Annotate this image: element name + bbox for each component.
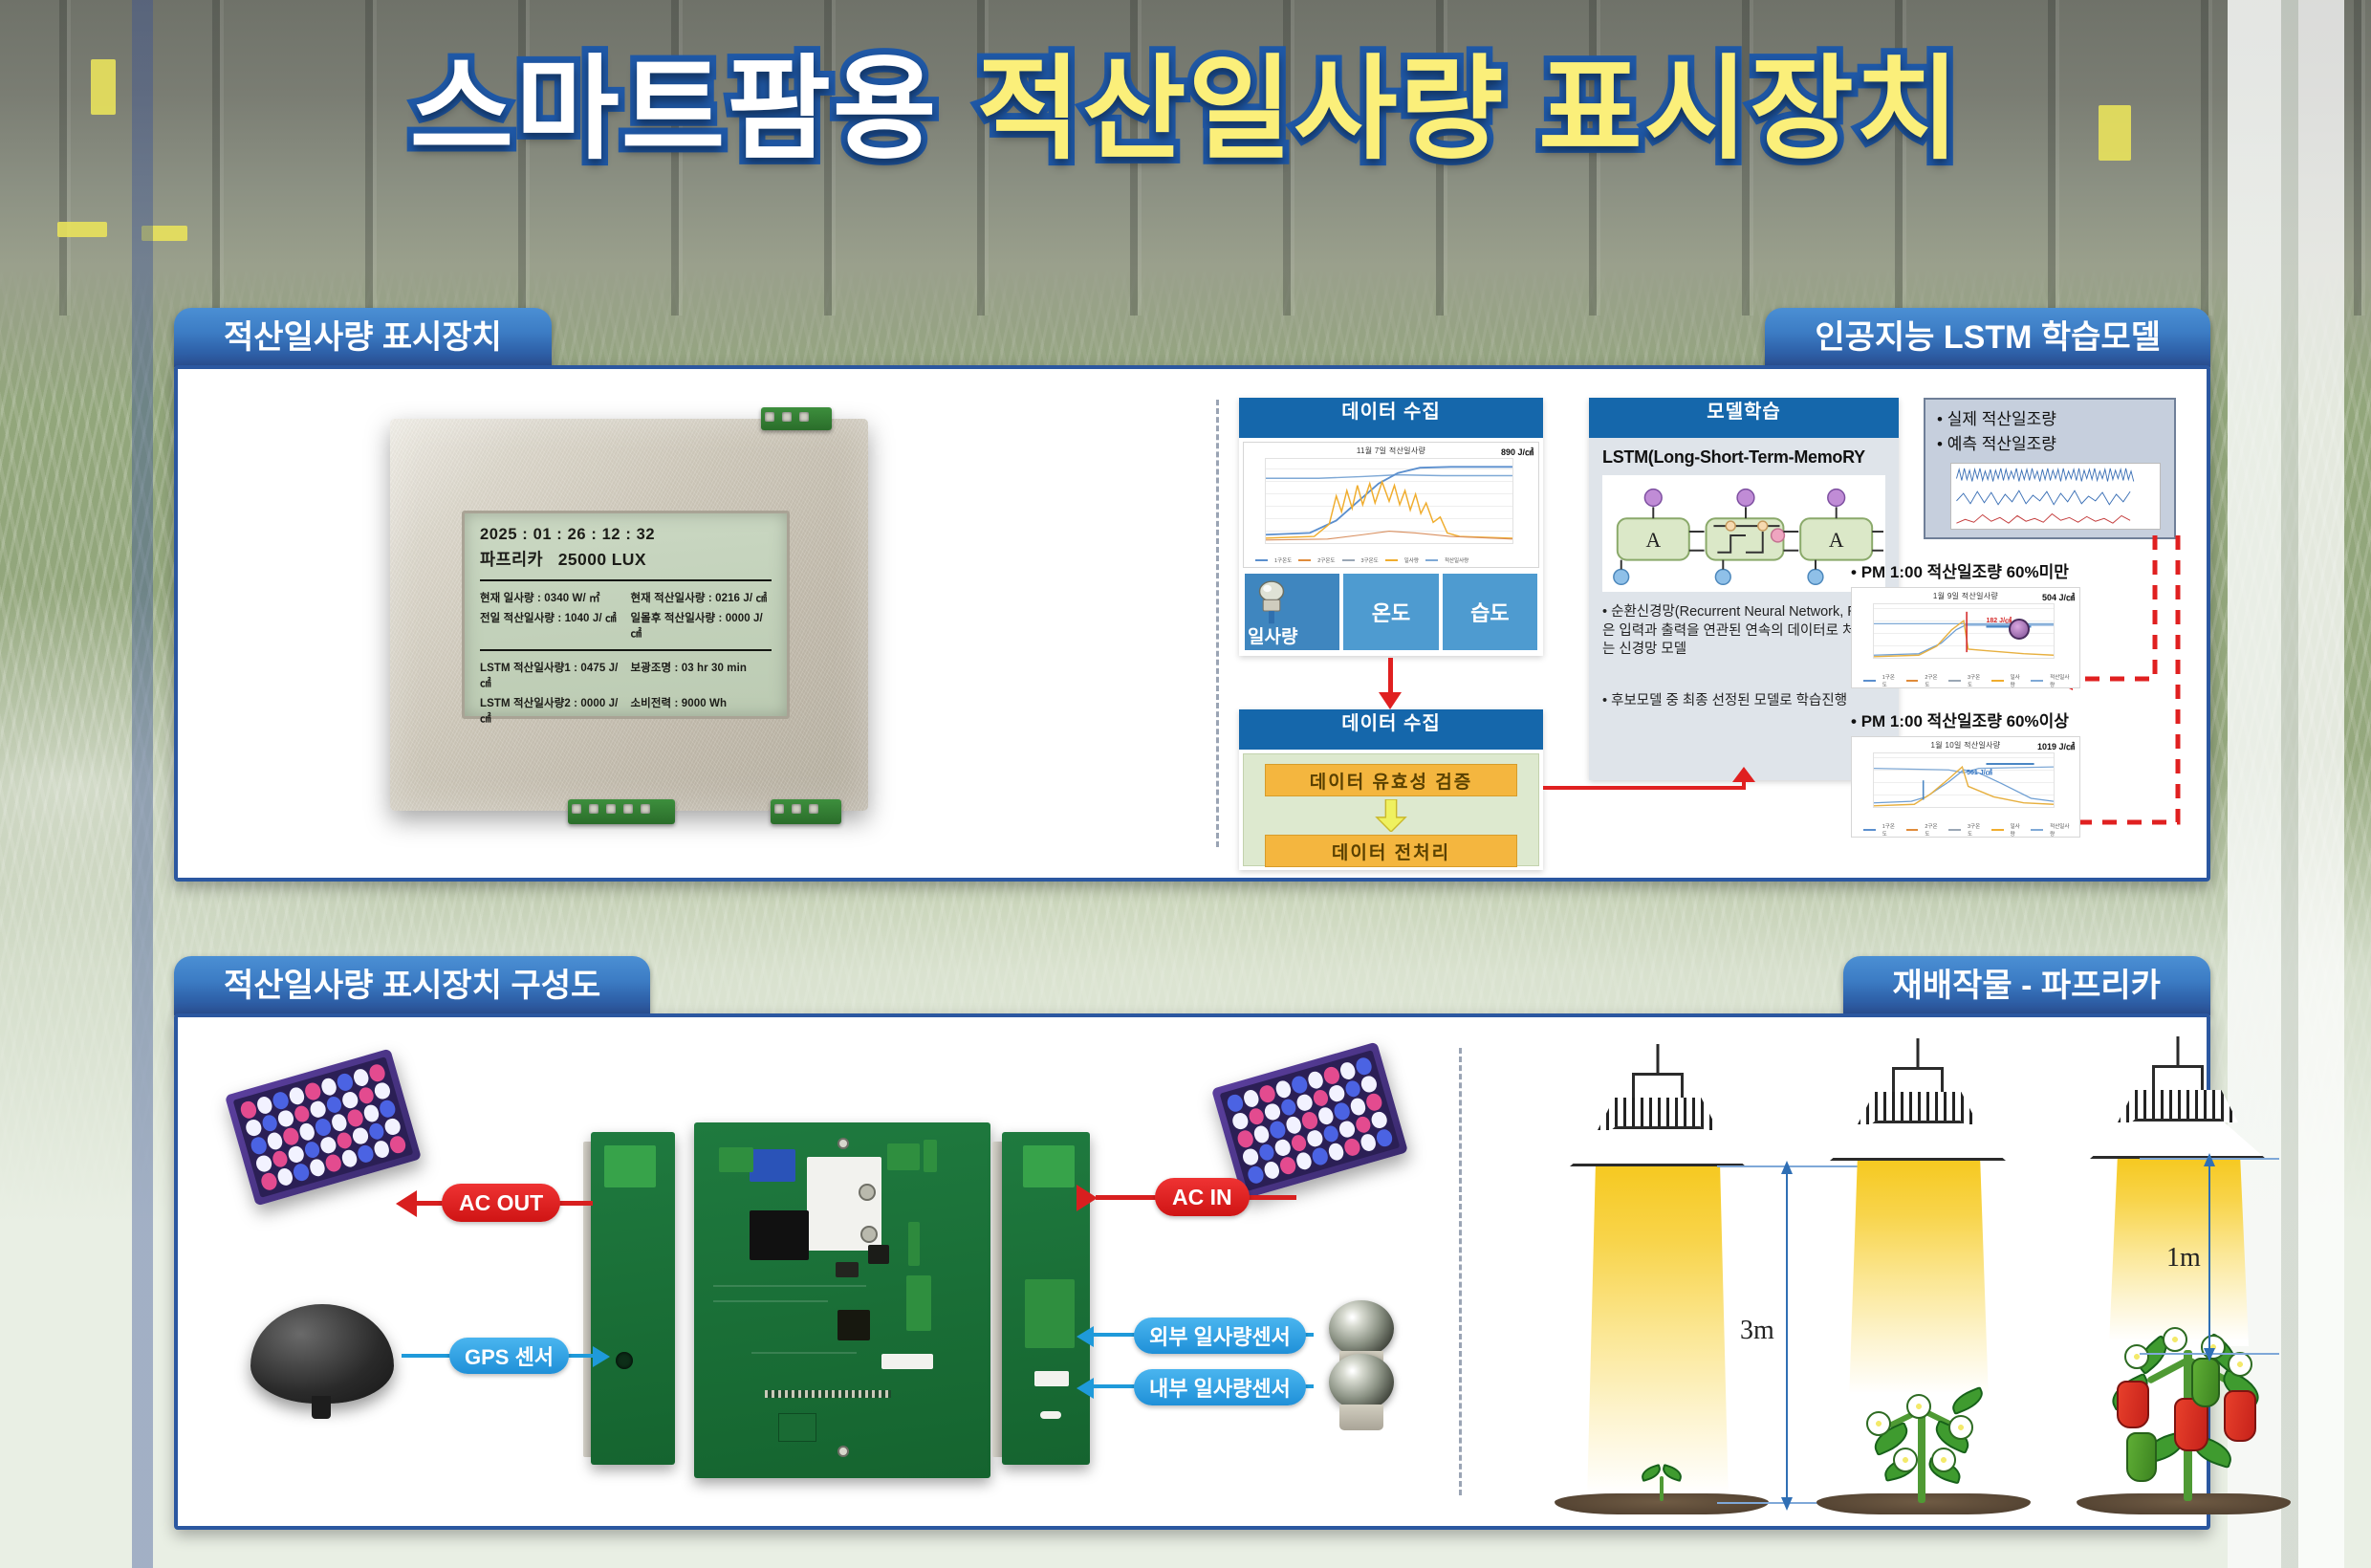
top-terminal-connector — [761, 407, 832, 430]
case1-title: • PM 1:00 적산일조량 60%미만 — [1851, 558, 2080, 582]
terminal-block-right — [906, 1275, 931, 1331]
usb-connector — [881, 1354, 933, 1369]
arrow-ac-in — [1077, 1185, 1098, 1211]
sensor-temperature: 온도 — [1341, 572, 1440, 652]
pcb-left-board — [591, 1132, 675, 1465]
irradiance-chart-plot — [1265, 458, 1513, 544]
lcd-divider-1 — [480, 579, 772, 581]
dim-label-3m: 3m — [1740, 1316, 1774, 1346]
fruiting-flower-4 — [2228, 1352, 2252, 1377]
legend-item: 2구온도 — [1317, 556, 1335, 564]
svg-text:561 J/㎠: 561 J/㎠ — [1967, 768, 1993, 776]
sticky-trap — [57, 222, 107, 237]
sensor-humidity: 습도 — [1441, 572, 1539, 652]
tab-display-device[interactable]: 적산일사량 표시장치 — [174, 308, 552, 367]
preprocess-card: 데이터 수집 데이터 유효성 검증 데이터 전처리 — [1239, 709, 1543, 870]
legend-item: 1구온도 — [1274, 556, 1292, 564]
label-gps-sensor: GPS 센서 — [449, 1338, 569, 1374]
plant-seedling — [1641, 1459, 1683, 1501]
flower-1 — [1866, 1411, 1891, 1436]
label-ac-out: AC OUT — [442, 1184, 560, 1222]
grow-lamp-2 — [1822, 1038, 2013, 1163]
step-preprocess: 데이터 전처리 — [1265, 835, 1517, 867]
lcd-metrics-group-2: LSTM 적산일사량1 : 0475 J/ ㎠ 보광조명 : 03 hr 30 … — [480, 660, 772, 726]
pcb-trace — [713, 1285, 866, 1287]
pin-strip — [765, 1390, 891, 1398]
title-part-2: 적산일사량 표시장치 — [976, 17, 1961, 181]
sticky-trap — [141, 226, 187, 241]
lamp-driver-box-2 — [1892, 1067, 1944, 1096]
svg-text:A: A — [1829, 529, 1844, 552]
lcd-divider-2 — [480, 649, 772, 651]
pcb-main-board — [694, 1122, 990, 1478]
paprika-growth-diagram: 3m — [1470, 1017, 2207, 1526]
case1-chart: 1월 9일 적산일사량 504 J/㎠ 182 J/㎠ 1구온도 2 — [1851, 587, 2080, 688]
lamp-heatsink-3 — [2118, 1090, 2238, 1122]
lcd-crop: 파프리카 — [480, 550, 543, 569]
pyranometer-base-2 — [1339, 1405, 1383, 1430]
result-bullet-1: • 실제 적산일조량 — [1937, 407, 2163, 432]
bottom-panel: 적산일사량 표시장치 구성도 재배작물 - 파프리카 — [174, 956, 2210, 1530]
sensor-terminal-block — [1025, 1279, 1075, 1348]
legend-item: 일사량 — [1404, 556, 1419, 564]
legend-item: 적산일사량 — [2050, 673, 2074, 688]
flowering-leaf-5 — [1948, 1386, 1987, 1415]
case2-chart: 1월 10일 적산일사량 1019 J/㎠ 561 J/㎠ 1구온도 2구온도 … — [1851, 736, 2080, 838]
pcb-right-board — [1002, 1132, 1090, 1465]
capacitor-1 — [859, 1184, 876, 1201]
arrow-gps — [593, 1346, 610, 1367]
lamp-cord-2 — [1917, 1038, 1920, 1071]
legend-item: 2구온도 — [1925, 673, 1942, 688]
system-configuration-diagram: AC OUT AC IN GPS 센서 외부 일사량센서 내부 일사량센서 — [178, 1017, 1459, 1526]
arrow-ac-out — [396, 1190, 417, 1217]
fruiting-flower-1 — [2124, 1344, 2149, 1369]
lcd-datetime: 2025 : 01 : 26 : 12 : 32 — [480, 526, 772, 544]
case2-block: • PM 1:00 적산일조량 60%이상 1월 10일 적산일사량 1019 … — [1851, 708, 2080, 838]
dim-label-1m: 1m — [2166, 1243, 2201, 1274]
lcd-current-accumulated: 현재 적산일사량 : 0216 J/ ㎠ — [631, 590, 772, 605]
flower-4 — [1893, 1448, 1918, 1472]
mcu — [837, 1310, 870, 1340]
legend-item: 2구온도 — [1925, 822, 1942, 838]
legend-item: 1구온도 — [1882, 822, 1900, 838]
header-left — [719, 1147, 753, 1172]
lamp-driver-box — [1632, 1073, 1684, 1101]
model-bullet-2: • 후보모델 중 최종 선정된 모델로 학습진행 — [1602, 692, 1885, 711]
ic-small — [836, 1262, 859, 1277]
top-panel: 적산일사량 표시장치 인공지능 LSTM 학습모델 2025 : 01 : 26… — [174, 308, 2210, 882]
preprocess-body: 데이터 유효성 검증 데이터 전처리 — [1243, 753, 1539, 866]
lcd-lstm-accum-1: LSTM 적산일사량1 : 0475 J/ ㎠ — [480, 660, 621, 690]
flower-5 — [1931, 1448, 1956, 1472]
pyranometer-internal — [1329, 1354, 1394, 1430]
led-grow-light-output — [225, 1049, 422, 1207]
panel-divider — [1216, 400, 1219, 847]
pyranometer-icon — [1251, 576, 1293, 625]
lcd-supplement-light-time: 보광조명 : 03 hr 30 min — [631, 660, 772, 690]
case1-block: • PM 1:00 적산일조량 60%미만 1월 9일 적산일사량 504 J/… — [1851, 558, 2080, 688]
pin-header-right — [908, 1222, 920, 1266]
model-bullet-1: • 순환신경망(Recurrent Neural Network, RNN)은 … — [1602, 603, 1885, 660]
lcd-lstm-accum-2: LSTM 적산일사량2 : 0000 J/ ㎠ — [480, 695, 621, 726]
sensor-irradiance-label: 일사량 — [1248, 622, 1297, 648]
light-beam-2 — [1849, 1161, 1989, 1402]
plant-flowering — [1849, 1369, 1992, 1503]
gps-antenna — [250, 1304, 394, 1404]
tab-lstm-model[interactable]: 인공지능 LSTM 학습모델 — [1765, 308, 2210, 367]
lamp-cord-3 — [2177, 1036, 2180, 1069]
legend-item: 일사량 — [2011, 673, 2025, 688]
flow-arrow-head-down — [1379, 692, 1402, 709]
module-bottom — [778, 1413, 816, 1442]
irradiance-chart: 11월 7일 적산일사량 890 J/㎠ 1구온도 2구온도 3구온도 일사량 … — [1243, 442, 1539, 568]
legend-item: 일사량 — [2011, 822, 2025, 838]
irradiance-chart-legend: 1구온도 2구온도 3구온도 일사량 적산일사량 — [1255, 555, 1533, 566]
flower-2 — [1906, 1394, 1931, 1419]
bottom-panel-body: AC OUT AC IN GPS 센서 외부 일사량센서 내부 일사량센서 — [174, 1013, 2210, 1530]
data-collection-title: 데이터 수집 — [1239, 398, 1543, 438]
usb-c-port — [1040, 1411, 1061, 1419]
lcd-crop-lux: 파프리카 25000 LUX — [480, 547, 772, 571]
model-subtitle: LSTM(Long-Short-Term-MemoRY — [1602, 447, 1885, 468]
tab-crop-paprika[interactable]: 재배작물 - 파프리카 — [1843, 956, 2210, 1015]
label-external-sensor: 외부 일사량센서 — [1134, 1318, 1306, 1354]
arrow-ext-sensor — [1077, 1326, 1094, 1347]
case1-chart-value: 504 J/㎠ — [2042, 591, 2075, 603]
legend-item: 3구온도 — [1968, 673, 1985, 688]
result-timeseries-chart — [1950, 463, 2161, 530]
legend-item: 1구온도 — [1882, 673, 1900, 688]
lamp-cord — [1657, 1044, 1660, 1077]
legend-item: 3구온도 — [1968, 822, 1985, 838]
grow-lamp-3 — [2082, 1036, 2273, 1161]
lamp-reflector-2 — [1830, 1121, 2006, 1161]
grape-icon — [2009, 619, 2030, 640]
case2-title-text: PM 1:00 적산일조량 60%이상 — [1861, 712, 2069, 730]
irradiance-chart-title: 11월 7일 적산일사량 — [1244, 443, 1538, 456]
label-internal-sensor: 내부 일사량센서 — [1134, 1369, 1306, 1405]
sensor-row: 일사량 온도 습도 — [1243, 572, 1539, 652]
panel-divider-2 — [1459, 1048, 1462, 1495]
case2-chart-value: 1019 J/㎠ — [2037, 740, 2075, 752]
model-training-title: 모델학습 — [1589, 398, 1899, 438]
lamp-reflector — [1570, 1126, 1746, 1166]
pcb-trace — [713, 1300, 828, 1302]
flow-arrow-head-up — [1732, 767, 1755, 782]
tab-system-diagram[interactable]: 적산일사량 표시장치 구성도 — [174, 956, 650, 1015]
capacitor-2 — [860, 1226, 878, 1243]
pepper-red-1 — [2117, 1381, 2149, 1428]
top-panel-body: 2025 : 01 : 26 : 12 : 32 파프리카 25000 LUX … — [174, 365, 2210, 882]
lstm-flow-diagram: 데이터 수집 11월 7일 적산일사량 890 J/㎠ 1구온도 2구온도 3구… — [1239, 392, 2176, 870]
preprocess-title: 데이터 수집 — [1239, 709, 1543, 750]
irradiance-chart-value: 890 J/㎠ — [1501, 446, 1534, 458]
sensor-irradiance: 일사량 — [1243, 572, 1341, 652]
lamp-heatsink — [1598, 1098, 1718, 1130]
lcd-prevday-accumulated: 전일 적산일사량 : 1040 J/ ㎠ — [480, 610, 621, 641]
lcd-metrics-group-1: 현재 일사량 : 0340 W/ ㎡ 현재 적산일사량 : 0216 J/ ㎠ … — [480, 590, 772, 641]
gps-connector — [616, 1352, 633, 1369]
display-device-photo: 2025 : 01 : 26 : 12 : 32 파프리카 25000 LUX … — [390, 419, 868, 811]
case2-legend: 1구온도 2구온도 3구온도 일사량 적산일사량 — [1863, 824, 2074, 836]
case1-title-text: PM 1:00 적산일조량 60%미만 — [1861, 563, 2069, 581]
dim-arrows-3m — [1778, 1161, 1795, 1511]
flower-3 — [1948, 1415, 1973, 1440]
lcd-lux: 25000 LUX — [558, 550, 646, 569]
down-arrow-icon — [1372, 799, 1410, 832]
fruiting-flower-2 — [2163, 1327, 2187, 1352]
lamp-reflector-3 — [2090, 1119, 2266, 1159]
seedling-stem — [1660, 1476, 1664, 1501]
lcd-sunset-accumulated: 일몰후 적산일사량 : 0000 J/ ㎠ — [631, 610, 772, 641]
result-bullet-2: • 예측 적산일조량 — [1937, 432, 2163, 457]
pepper-red-3 — [2224, 1390, 2256, 1442]
case2-title: • PM 1:00 적산일조량 60%이상 — [1851, 708, 2080, 731]
lcd-power-consumption: 소비전력 : 9000 Wh — [631, 695, 772, 726]
model-bullet-1-text: 순환신경망(Recurrent Neural Network, RNN)은 입력… — [1602, 604, 1882, 657]
blue-trimmer — [750, 1149, 795, 1182]
flow-line-preprocess-to-model — [1543, 786, 1746, 790]
seedling-leaf-right — [1661, 1464, 1685, 1482]
data-collection-card: 데이터 수집 11월 7일 적산일사량 890 J/㎠ 1구온도 2구온도 3구… — [1239, 398, 1543, 656]
legend-item: 적산일사량 — [2050, 822, 2074, 838]
lamp-driver-box-3 — [2152, 1065, 2204, 1094]
pyranometer-dome-2 — [1329, 1354, 1394, 1410]
title-part-1: 스마트팜용 — [410, 17, 939, 181]
result-bullet-2-text: 예측 적산일조량 — [1947, 435, 2056, 453]
relay-module — [750, 1210, 809, 1260]
svg-text:A: A — [1645, 529, 1661, 552]
lcd-screen: 2025 : 01 : 26 : 12 : 32 파프리카 25000 LUX … — [462, 511, 790, 719]
dim-arrows-1m — [2201, 1153, 2218, 1361]
legend-item: 적산일사량 — [1445, 556, 1468, 564]
bottom-terminal-connector-2 — [771, 799, 841, 824]
lamp-heatsink-2 — [1858, 1092, 1978, 1124]
pcb-trace — [751, 1352, 857, 1354]
gps-antenna-stem — [312, 1396, 331, 1419]
plant-fruiting — [2092, 1310, 2283, 1501]
ic-small-2 — [868, 1245, 889, 1264]
label-ac-in: AC IN — [1155, 1178, 1250, 1216]
header-top — [887, 1143, 920, 1170]
mount-hole-bottom — [837, 1446, 849, 1457]
case1-legend: 1구온도 2구온도 3구온도 일사량 적산일사량 — [1863, 675, 2074, 686]
model-bullet-2-text: 후보모델 중 최종 선정된 모델로 학습진행 — [1611, 693, 1847, 708]
pyranometer-dome — [1329, 1300, 1394, 1357]
poster-title: 스마트팜용적산일사량 표시장치 — [0, 17, 2371, 181]
result-card: • 실제 적산일조량 • 예측 적산일조량 — [1924, 398, 2176, 539]
lcd-current-irradiance: 현재 일사량 : 0340 W/ ㎡ — [480, 590, 621, 605]
pepper-green-2 — [2126, 1432, 2157, 1482]
led-grow-light-input — [1211, 1042, 1408, 1200]
light-beam-1 — [1587, 1166, 1729, 1503]
ac-out-terminal — [604, 1145, 656, 1187]
legend-item: 3구온도 — [1361, 556, 1379, 564]
flow-arrow-line — [1388, 658, 1393, 696]
led-face-2 — [1220, 1050, 1401, 1191]
result-bullet-1-text: 실제 적산일조량 — [1947, 410, 2056, 428]
usb-a-port — [1034, 1371, 1069, 1386]
header-top-2 — [924, 1140, 937, 1172]
step-validate: 데이터 유효성 검증 — [1265, 764, 1517, 796]
led-face — [233, 1056, 414, 1198]
mount-hole-top — [837, 1138, 849, 1149]
svg-text:182 J/㎠: 182 J/㎠ — [1986, 616, 2012, 624]
arrow-int-sensor — [1077, 1378, 1094, 1399]
pepper-green-1 — [2191, 1358, 2220, 1407]
ac-in-terminal — [1023, 1145, 1075, 1187]
lstm-cell-diagram: A A — [1602, 475, 1885, 592]
grow-lamp-1 — [1562, 1044, 1753, 1168]
bottom-terminal-connector-1 — [568, 799, 675, 824]
